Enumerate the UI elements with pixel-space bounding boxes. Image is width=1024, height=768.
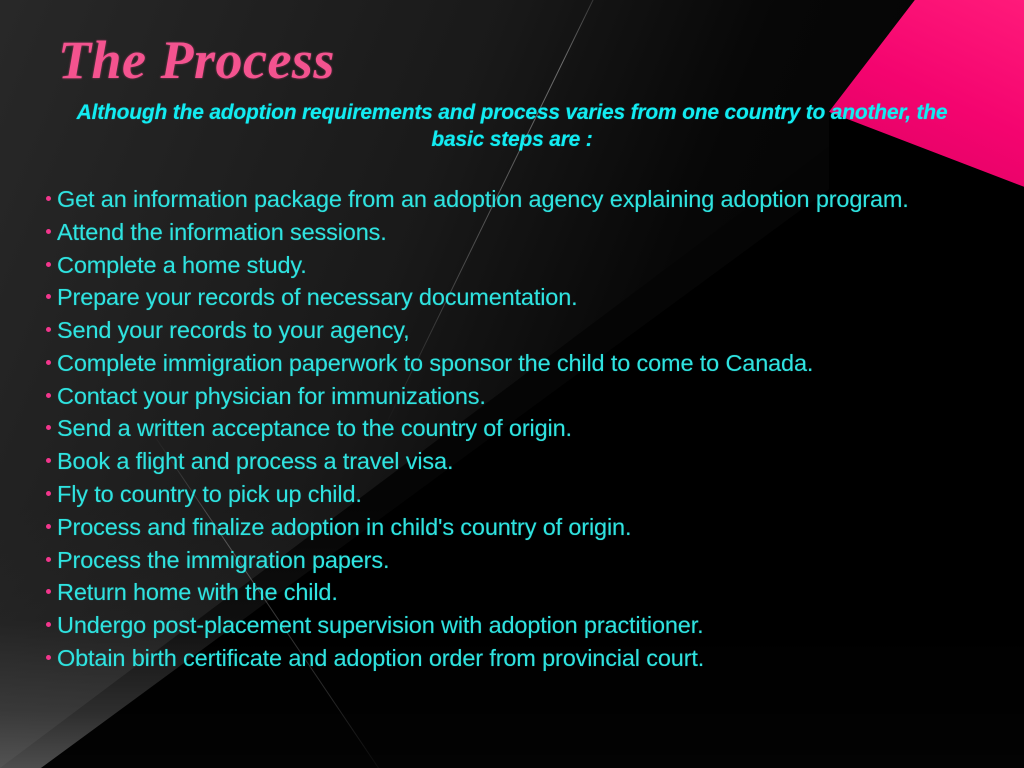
bullet-dot-icon (46, 589, 51, 594)
list-item: Process the immigration papers. (44, 544, 974, 577)
list-item-label: Contact your physician for immunizations… (57, 383, 486, 409)
list-item: Complete immigration paperwork to sponso… (44, 347, 974, 380)
bullet-dot-icon (46, 294, 51, 299)
list-item-label: Complete immigration paperwork to sponso… (57, 350, 813, 376)
list-item-label: Prepare your records of necessary docume… (57, 284, 578, 310)
list-item: Send a written acceptance to the country… (44, 412, 974, 445)
list-item: Undergo post-placement supervision with … (44, 609, 974, 642)
slide-subtitle: Although the adoption requirements and p… (62, 100, 962, 154)
list-item-label: Get an information package from an adopt… (57, 186, 909, 212)
bullet-dot-icon (46, 196, 51, 201)
slide-content: The Process Although the adoption requir… (0, 0, 1024, 768)
list-item-label: Process and finalize adoption in child's… (57, 514, 631, 540)
list-item-label: Attend the information sessions. (57, 219, 387, 245)
presentation-slide: The Process Although the adoption requir… (0, 0, 1024, 768)
slide-title: The Process (58, 32, 335, 89)
process-steps-list: Get an information package from an adopt… (44, 183, 974, 675)
list-item-label: Send a written acceptance to the country… (57, 415, 572, 441)
list-item: Send your records to your agency, (44, 314, 974, 347)
bullet-dot-icon (46, 622, 51, 627)
list-item-label: Undergo post-placement supervision with … (57, 612, 703, 638)
bullet-dot-icon (46, 327, 51, 332)
list-item-label: Return home with the child. (57, 579, 338, 605)
list-item: Contact your physician for immunizations… (44, 380, 974, 413)
bullet-dot-icon (46, 524, 51, 529)
bullet-dot-icon (46, 458, 51, 463)
bullet-dot-icon (46, 360, 51, 365)
bullet-dot-icon (46, 557, 51, 562)
list-item: Book a flight and process a travel visa. (44, 445, 974, 478)
bullet-dot-icon (46, 393, 51, 398)
list-item: Return home with the child. (44, 576, 974, 609)
bullet-dot-icon (46, 229, 51, 234)
list-item: Process and finalize adoption in child's… (44, 511, 974, 544)
bullet-dot-icon (46, 491, 51, 496)
list-item-label: Fly to country to pick up child. (57, 481, 362, 507)
list-item-label: Process the immigration papers. (57, 547, 389, 573)
list-item-label: Complete a home study. (57, 252, 307, 278)
list-item: Obtain birth certificate and adoption or… (44, 642, 974, 675)
list-item-label: Obtain birth certificate and adoption or… (57, 645, 704, 671)
list-item-label: Send your records to your agency, (57, 317, 410, 343)
list-item: Get an information package from an adopt… (44, 183, 974, 216)
bullet-dot-icon (46, 425, 51, 430)
list-item: Complete a home study. (44, 249, 974, 282)
list-item-label: Book a flight and process a travel visa. (57, 448, 453, 474)
bullet-dot-icon (46, 262, 51, 267)
bullet-dot-icon (46, 655, 51, 660)
list-item: Prepare your records of necessary docume… (44, 281, 974, 314)
list-item: Fly to country to pick up child. (44, 478, 974, 511)
list-item: Attend the information sessions. (44, 216, 974, 249)
